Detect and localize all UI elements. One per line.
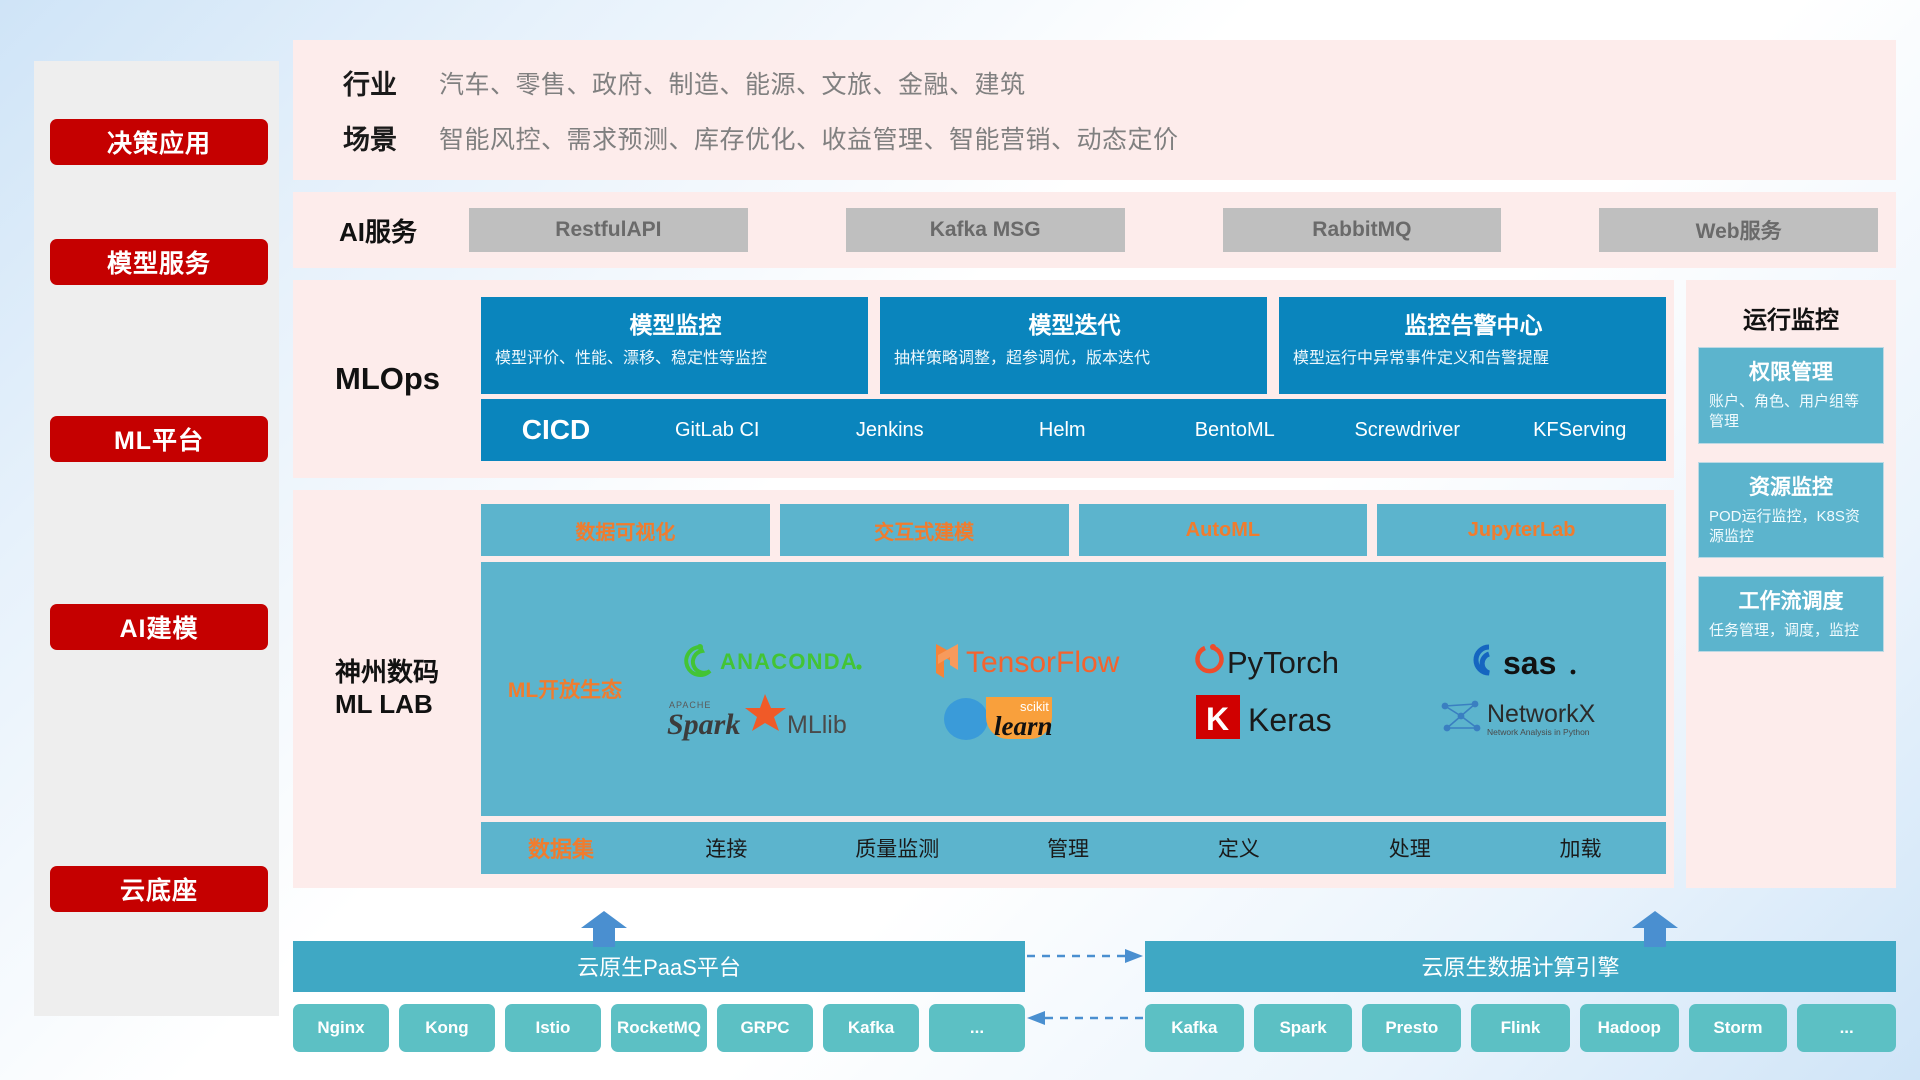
keras-logo: K Keras Keras (1152, 689, 1405, 745)
chip-presto[interactable]: Presto (1362, 1004, 1461, 1052)
monitor-card-resource[interactable]: 资源监控 POD运行监控，K8S资源监控 (1698, 462, 1884, 559)
tensorflow-logo: TensorFlow TensorFlow (898, 633, 1151, 689)
pytorch-logo: PyTorch PyTorch (1152, 633, 1405, 689)
rail-chip-model-service[interactable]: 模型服务 (50, 239, 268, 285)
platform-left: MLOps 模型监控 模型评价、性能、漂移、稳定性等监控 模型迭代 抽样策略调整… (293, 280, 1674, 888)
ml-ecosystem-row: ML开放生态 ANACONDA (481, 562, 1666, 816)
dataset-item-manage[interactable]: 管理 (983, 833, 1154, 863)
runtime-monitoring-panel: 运行监控 权限管理 账户、角色、用户组等管理 资源监控 POD运行监控，K8S资… (1686, 280, 1896, 888)
spark-mllib-logo-svg: APACHE Spark MLlib (667, 692, 877, 742)
chip-grpc[interactable]: GRPC (717, 1004, 813, 1052)
industry-scenario-band: 行业 汽车、零售、政府、制造、能源、文旅、金融、建筑 场景 智能风控、需求预测、… (293, 40, 1896, 180)
svg-text:Spark: Spark (667, 708, 740, 741)
tool-interactive-modeling[interactable]: 交互式建模 (780, 504, 1069, 556)
chip-storm[interactable]: Storm (1689, 1004, 1788, 1052)
rail-chip-ai-modeling[interactable]: AI建模 (50, 604, 268, 650)
cicd-item-jenkins[interactable]: Jenkins (804, 420, 977, 441)
rail-chip-label: AI建模 (119, 609, 198, 645)
scenario-values: 智能风控、需求预测、库存优化、收益管理、智能营销、动态定价 (439, 120, 1179, 156)
industry-values: 汽车、零售、政府、制造、能源、文旅、金融、建筑 (439, 65, 1026, 101)
card-title: 资源监控 (1709, 471, 1873, 501)
cloud-paas-title: 云原生PaaS平台 (293, 941, 1025, 992)
card-desc: 模型评价、性能、漂移、稳定性等监控 (495, 348, 856, 370)
ai-service-box-list: RestfulAPI Kafka MSG RabbitMQ Web服务 (459, 208, 1878, 252)
runtime-monitoring-title: 运行监控 (1698, 290, 1884, 347)
mlops-label: MLOps (319, 361, 481, 397)
mlops-content: 模型监控 模型评价、性能、漂移、稳定性等监控 模型迭代 抽样策略调整，超参调优，… (481, 290, 1666, 468)
dataset-item-define[interactable]: 定义 (1153, 833, 1324, 863)
spark-mllib-logo: APACHE Spark MLlib Spark MLlib (645, 689, 898, 745)
industry-label: 行业 (319, 63, 439, 102)
ml-lab-label-line1: 神州数码 (335, 656, 481, 689)
card-title: 权限管理 (1709, 356, 1873, 386)
monitor-card-workflow[interactable]: 工作流调度 任务管理，调度，监控 (1698, 576, 1884, 652)
ml-lab-content: 数据可视化 交互式建模 AutoML JupyterLab ML开放生态 (481, 500, 1666, 876)
cicd-title: CICD (481, 414, 631, 446)
ai-service-rabbitmq[interactable]: RabbitMQ (1223, 208, 1502, 252)
rail-chip-label: 决策应用 (107, 124, 211, 160)
cicd-item-bentoml[interactable]: BentoML (1149, 420, 1322, 441)
band-gap (293, 268, 1896, 280)
cloud-paas-block: 云原生PaaS平台 Nginx Kong Istio RocketMQ GRPC… (293, 941, 1025, 1052)
anaconda-logo-svg: ANACONDA (678, 641, 866, 681)
svg-text:K: K (1206, 701, 1229, 737)
chip-flink[interactable]: Flink (1471, 1004, 1570, 1052)
platform-region: MLOps 模型监控 模型评价、性能、漂移、稳定性等监控 模型迭代 抽样策略调整… (293, 280, 1896, 888)
chip-spark[interactable]: Spark (1254, 1004, 1353, 1052)
svg-text:ANACONDA: ANACONDA (720, 649, 858, 674)
tool-automl[interactable]: AutoML (1079, 504, 1368, 556)
left-layer-rail: 决策应用 模型服务 ML平台 AI建模 云底座 (34, 61, 279, 1016)
band-gap (293, 180, 1896, 192)
svg-text:TensorFlow: TensorFlow (966, 646, 1120, 679)
arrow-left-dashed-icon (1025, 1010, 1145, 1026)
dataset-item-quality[interactable]: 质量监测 (812, 833, 983, 863)
cloud-base-row: 云原生PaaS平台 Nginx Kong Istio RocketMQ GRPC… (293, 902, 1896, 1052)
rail-chip-decision-app[interactable]: 决策应用 (50, 119, 268, 165)
scikit-learn-logo: scikit learn scikit learn (898, 689, 1151, 745)
mlops-card-alert-center[interactable]: 监控告警中心 模型运行中异常事件定义和告警提醒 (1279, 297, 1666, 394)
chip-hadoop[interactable]: Hadoop (1580, 1004, 1679, 1052)
dataset-item-load[interactable]: 加载 (1495, 833, 1666, 863)
tool-jupyterlab[interactable]: JupyterLab (1377, 504, 1666, 556)
main-column: 行业 汽车、零售、政府、制造、能源、文旅、金融、建筑 场景 智能风控、需求预测、… (293, 40, 1896, 1052)
card-desc: 任务管理，调度，监控 (1709, 621, 1873, 641)
chip-more[interactable]: ... (929, 1004, 1025, 1052)
monitor-card-permission[interactable]: 权限管理 账户、角色、用户组等管理 (1698, 347, 1884, 444)
ml-lab-band: 神州数码 ML LAB 数据可视化 交互式建模 AutoML JupyterLa… (293, 490, 1674, 888)
sas-logo-svg: sas (1461, 639, 1601, 683)
scenario-label: 场景 (319, 118, 439, 157)
card-title: 监控告警中心 (1293, 306, 1654, 340)
industry-row: 行业 汽车、零售、政府、制造、能源、文旅、金融、建筑 (319, 63, 1876, 102)
svg-text:Keras: Keras (1248, 702, 1332, 738)
rail-chip-cloud-base[interactable]: 云底座 (50, 866, 268, 912)
dataset-row: 数据集 连接 质量监测 管理 定义 处理 加载 (481, 822, 1666, 874)
tool-data-visualization[interactable]: 数据可视化 (481, 504, 770, 556)
dataset-item-connect[interactable]: 连接 (641, 833, 812, 863)
keras-logo-svg: K Keras (1194, 693, 1362, 741)
chip-kafka-compute[interactable]: Kafka (1145, 1004, 1244, 1052)
tensorflow-logo-svg: TensorFlow (922, 638, 1128, 684)
scenario-row: 场景 智能风控、需求预测、库存优化、收益管理、智能营销、动态定价 (319, 118, 1876, 157)
svg-text:learn: learn (994, 711, 1053, 741)
ml-lab-label: 神州数码 ML LAB (319, 656, 481, 721)
svg-text:sas: sas (1503, 645, 1556, 681)
cicd-bar: CICD GitLab CI Jenkins Helm BentoML Scre… (481, 399, 1666, 461)
ai-service-kafka-msg[interactable]: Kafka MSG (846, 208, 1125, 252)
ai-service-label: AI服务 (319, 212, 459, 249)
cicd-item-gitlab-ci[interactable]: GitLab CI (631, 420, 804, 441)
diagram-root: 决策应用 模型服务 ML平台 AI建模 云底座 行业 汽车、零售、政府、制造、能… (0, 0, 1920, 1080)
rail-chip-label: 云底座 (120, 871, 198, 907)
rail-chip-label: ML平台 (114, 421, 204, 457)
cloud-compute-chip-list: Kafka Spark Presto Flink Hadoop Storm ..… (1145, 992, 1896, 1052)
ml-ecosystem-label: ML开放生态 (485, 674, 645, 704)
ml-ecosystem-logo-grid: ANACONDA ANACONDA. (645, 633, 1658, 745)
svg-text:PyTorch: PyTorch (1227, 645, 1339, 680)
arrow-right-dashed-icon (1025, 948, 1145, 964)
dataset-label: 数据集 (481, 832, 641, 864)
chip-istio[interactable]: Istio (505, 1004, 601, 1052)
mlops-card-list: 模型监控 模型评价、性能、漂移、稳定性等监控 模型迭代 抽样策略调整，超参调优，… (481, 297, 1666, 394)
scikit-learn-logo-svg: scikit learn (932, 691, 1118, 743)
svg-text:NetworkX: NetworkX (1487, 700, 1596, 728)
rail-chip-ml-platform[interactable]: ML平台 (50, 416, 268, 462)
networkx-logo-svg: NetworkX Network Analysis in Python (1435, 692, 1627, 742)
card-title: 工作流调度 (1709, 585, 1873, 615)
cloud-compute-title: 云原生数据计算引擎 (1145, 941, 1896, 992)
card-desc: 抽样策略调整，超参调优，版本迭代 (894, 348, 1255, 370)
cicd-item-helm[interactable]: Helm (976, 420, 1149, 441)
card-desc: 模型运行中异常事件定义和告警提醒 (1293, 348, 1654, 370)
ai-service-web[interactable]: Web服务 (1599, 208, 1878, 252)
dataset-item-process[interactable]: 处理 (1324, 833, 1495, 863)
rail-chip-label: 模型服务 (107, 244, 211, 280)
svg-text:MLlib: MLlib (787, 711, 847, 739)
cicd-item-kfserving[interactable]: KFServing (1494, 420, 1667, 441)
card-desc: 账户、角色、用户组等管理 (1709, 392, 1873, 433)
mlops-card-model-monitoring[interactable]: 模型监控 模型评价、性能、漂移、稳定性等监控 (481, 297, 868, 394)
chip-kong[interactable]: Kong (399, 1004, 495, 1052)
bidirectional-link-arrows (1025, 948, 1145, 1052)
card-title: 模型监控 (495, 306, 856, 340)
arrow-up-paas-icon (581, 911, 627, 947)
ai-service-band: AI服务 RestfulAPI Kafka MSG RabbitMQ Web服务 (293, 192, 1896, 268)
ml-lab-tool-list: 数据可视化 交互式建模 AutoML JupyterLab (481, 504, 1666, 556)
mlops-band: MLOps 模型监控 模型评价、性能、漂移、稳定性等监控 模型迭代 抽样策略调整… (293, 280, 1674, 478)
networkx-logo: NetworkX Network Analysis in Python Netw… (1405, 689, 1658, 745)
card-desc: POD运行监控，K8S资源监控 (1709, 507, 1873, 548)
chip-nginx[interactable]: Nginx (293, 1004, 389, 1052)
sas-logo: sas sas (1405, 633, 1658, 689)
pytorch-logo-svg: PyTorch (1185, 638, 1371, 684)
chip-kafka[interactable]: Kafka (823, 1004, 919, 1052)
svg-text:Network Analysis in Python: Network Analysis in Python (1487, 727, 1590, 737)
chip-more-compute[interactable]: ... (1797, 1004, 1896, 1052)
cloud-paas-chip-list: Nginx Kong Istio RocketMQ GRPC Kafka ... (293, 992, 1025, 1052)
card-title: 模型迭代 (894, 306, 1255, 340)
cicd-item-screwdriver[interactable]: Screwdriver (1321, 420, 1494, 441)
ml-lab-label-line2: ML LAB (335, 688, 481, 721)
cloud-compute-block: 云原生数据计算引擎 Kafka Spark Presto Flink Hadoo… (1145, 941, 1896, 1052)
chip-rocketmq[interactable]: RocketMQ (611, 1004, 707, 1052)
anaconda-logo: ANACONDA ANACONDA. (645, 633, 898, 689)
mlops-card-model-iteration[interactable]: 模型迭代 抽样策略调整，超参调优，版本迭代 (880, 297, 1267, 394)
ai-service-restfulapi[interactable]: RestfulAPI (469, 208, 748, 252)
arrow-up-compute-icon (1632, 911, 1678, 947)
